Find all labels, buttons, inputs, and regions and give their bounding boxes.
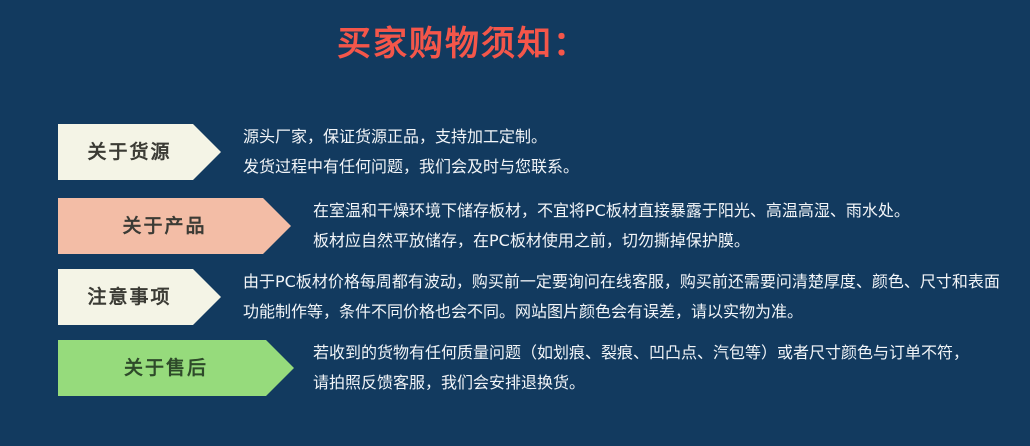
- section-banner-notice: 注意事项: [58, 269, 221, 325]
- section-label-after-sales: 关于售后: [124, 359, 208, 378]
- section-body-after-sales: 若收到的货物有任何质量问题（如划痕、裂痕、凹凸点、汽包等）或者尺寸颜色与订单不符…: [313, 338, 969, 398]
- notice-section-source: 关于货源 源头厂家，保证货源正品，支持加工定制。 发货过程中有任何问题，我们会及…: [58, 124, 1018, 180]
- section-banner-source: 关于货源: [58, 124, 221, 180]
- body-line: 由于PC板材价格每周都有波动，购买前一定要询问在线客服，购买前还需要问清楚厚度、…: [243, 267, 1000, 297]
- section-body-source: 源头厂家，保证货源正品，支持加工定制。 发货过程中有任何问题，我们会及时与您联系…: [243, 122, 579, 182]
- notice-section-after-sales: 关于售后 若收到的货物有任何质量问题（如划痕、裂痕、凹凸点、汽包等）或者尺寸颜色…: [58, 340, 1018, 396]
- section-label-source: 关于货源: [87, 143, 171, 162]
- section-label-product: 关于产品: [122, 217, 206, 236]
- body-line: 若收到的货物有任何质量问题（如划痕、裂痕、凹凸点、汽包等）或者尺寸颜色与订单不符…: [313, 338, 969, 368]
- body-line: 功能制作等，条件不同价格也会不同。网站图片颜色会有误差，请以实物为准。: [243, 297, 1000, 327]
- body-line: 板材应自然平放储存，在PC板材使用之前，切勿撕掉保护膜。: [313, 226, 910, 256]
- section-body-product: 在室温和干燥环境下储存板材，不宜将PC板材直接暴露于阳光、高温高湿、雨水处。 板…: [313, 196, 910, 256]
- section-banner-after-sales: 关于售后: [58, 340, 294, 396]
- notice-section-notice: 注意事项 由于PC板材价格每周都有波动，购买前一定要询问在线客服，购买前还需要问…: [58, 269, 1018, 325]
- section-label-notice: 注意事项: [87, 288, 171, 307]
- section-body-notice: 由于PC板材价格每周都有波动，购买前一定要询问在线客服，购买前还需要问清楚厚度、…: [243, 267, 1000, 327]
- page-title: 买家购物须知：: [0, 22, 1030, 66]
- body-line: 请拍照反馈客服，我们会安排退换货。: [313, 368, 969, 398]
- body-line: 在室温和干燥环境下储存板材，不宜将PC板材直接暴露于阳光、高温高湿、雨水处。: [313, 196, 910, 226]
- section-banner-product: 关于产品: [58, 198, 291, 254]
- body-line: 发货过程中有任何问题，我们会及时与您联系。: [243, 152, 579, 182]
- page-title-text: 买家购物须知：: [337, 22, 589, 66]
- notice-section-product: 关于产品 在室温和干燥环境下储存板材，不宜将PC板材直接暴露于阳光、高温高湿、雨…: [58, 198, 1018, 254]
- buyer-notice-banner: 买家购物须知： 关于货源 源头厂家，保证货源正品，支持加工定制。 发货过程中有任…: [0, 0, 1030, 446]
- body-line: 源头厂家，保证货源正品，支持加工定制。: [243, 122, 579, 152]
